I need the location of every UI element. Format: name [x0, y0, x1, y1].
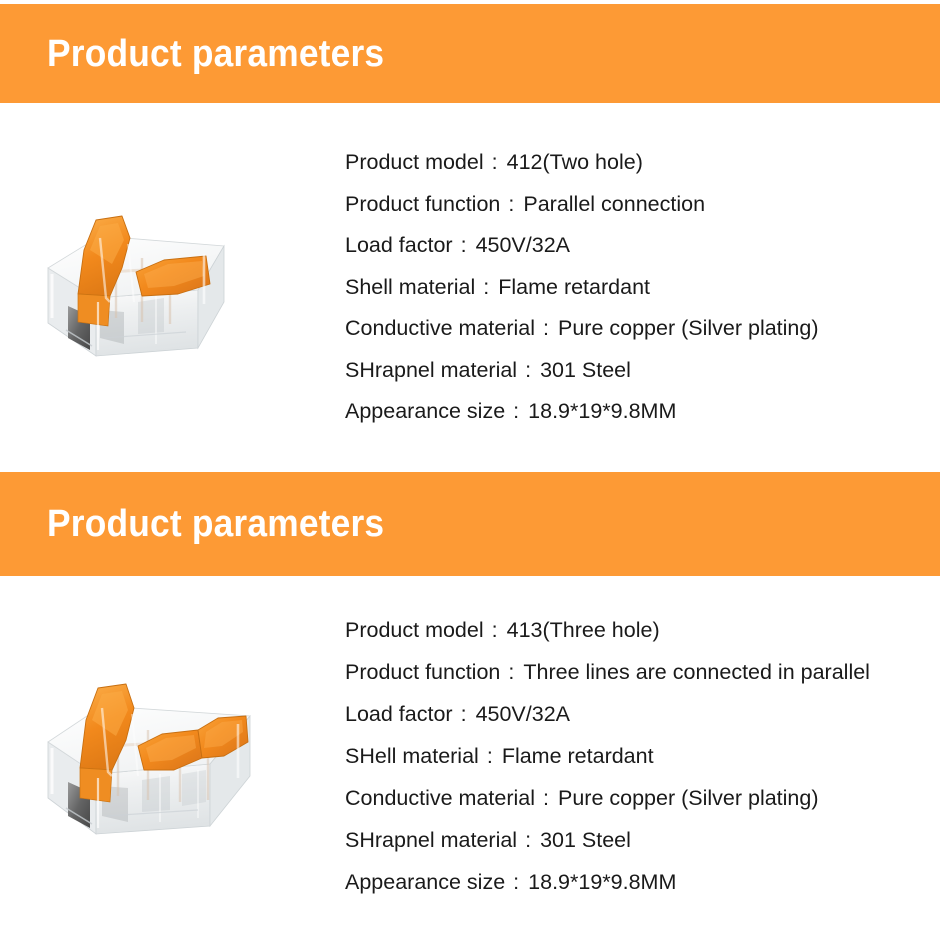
spec-label: Conductive material — [345, 316, 535, 340]
spec-value: 412(Two hole) — [500, 150, 643, 174]
spec-separator: : — [500, 192, 516, 216]
spec-row: Product model:413(Three hole) — [345, 609, 870, 651]
spec-separator: : — [453, 233, 469, 257]
spec-label: SHrapnel material — [345, 828, 517, 852]
spec-row: Conductive material:Pure copper (Silver … — [345, 308, 819, 350]
spec-value: 18.9*19*9.8MM — [521, 870, 676, 894]
spec-separator: : — [500, 660, 516, 684]
spec-value: Parallel connection — [516, 192, 705, 216]
product-image-413 — [38, 664, 264, 864]
spec-separator: : — [479, 744, 495, 768]
section-title-1: Product parameters — [47, 35, 384, 73]
spec-list-1: Product model:412(Two hole) Product func… — [345, 142, 819, 433]
spec-row: SHrapnel material:301 Steel — [345, 350, 819, 392]
spec-value: Flame retardant — [495, 744, 654, 768]
spec-list-2: Product model:413(Three hole) Product fu… — [345, 609, 870, 903]
spec-separator: : — [517, 828, 533, 852]
spec-label: Product function — [345, 660, 500, 684]
section-title-2: Product parameters — [47, 505, 384, 543]
spec-row: Load factor:450V/32A — [345, 225, 819, 267]
spec-row: Load factor:450V/32A — [345, 693, 870, 735]
spec-separator: : — [475, 275, 491, 299]
spec-row: Appearance size:18.9*19*9.8MM — [345, 861, 870, 903]
spec-row: Product function:Three lines are connect… — [345, 651, 870, 693]
section-banner-2: Product parameters — [0, 472, 940, 576]
spec-label: Product model — [345, 618, 484, 642]
spec-label: SHell material — [345, 744, 479, 768]
spec-value: 413(Three hole) — [500, 618, 660, 642]
product-section-2: Product model:413(Three hole) Product fu… — [0, 576, 940, 940]
spec-label: Product function — [345, 192, 500, 216]
spec-label: Load factor — [345, 702, 453, 726]
spec-row: Product model:412(Two hole) — [345, 142, 819, 184]
spec-separator: : — [535, 316, 551, 340]
spec-label: Conductive material — [345, 786, 535, 810]
spec-value: Pure copper (Silver plating) — [551, 316, 819, 340]
spec-row: Product function:Parallel connection — [345, 184, 819, 226]
spec-value: 450V/32A — [469, 702, 570, 726]
product-parameters-page: Product parameters — [0, 0, 940, 940]
spec-value: Three lines are connected in parallel — [516, 660, 870, 684]
spec-label: Shell material — [345, 275, 475, 299]
spec-row: Appearance size:18.9*19*9.8MM — [345, 391, 819, 433]
spec-label: Appearance size — [345, 399, 505, 423]
spec-value: 450V/32A — [469, 233, 570, 257]
spec-separator: : — [535, 786, 551, 810]
spec-value: 18.9*19*9.8MM — [521, 399, 676, 423]
spec-value: Pure copper (Silver plating) — [551, 786, 819, 810]
spec-row: Shell material:Flame retardant — [345, 267, 819, 309]
section-banner-1: Product parameters — [0, 4, 940, 103]
spec-value: 301 Steel — [533, 358, 631, 382]
spec-row: SHrapnel material:301 Steel — [345, 819, 870, 861]
spec-separator: : — [505, 399, 521, 423]
spec-label: Product model — [345, 150, 484, 174]
spec-separator: : — [517, 358, 533, 382]
spec-value: Flame retardant — [491, 275, 650, 299]
spec-separator: : — [484, 618, 500, 642]
spec-value: 301 Steel — [533, 828, 631, 852]
spec-row: Conductive material:Pure copper (Silver … — [345, 777, 870, 819]
spec-separator: : — [453, 702, 469, 726]
spec-separator: : — [505, 870, 521, 894]
spec-row: SHell material:Flame retardant — [345, 735, 870, 777]
product-section-1: Product model:412(Two hole) Product func… — [0, 103, 940, 472]
spec-label: Appearance size — [345, 870, 505, 894]
spec-separator: : — [484, 150, 500, 174]
spec-label: Load factor — [345, 233, 453, 257]
spec-label: SHrapnel material — [345, 358, 517, 382]
product-image-412 — [38, 198, 238, 383]
